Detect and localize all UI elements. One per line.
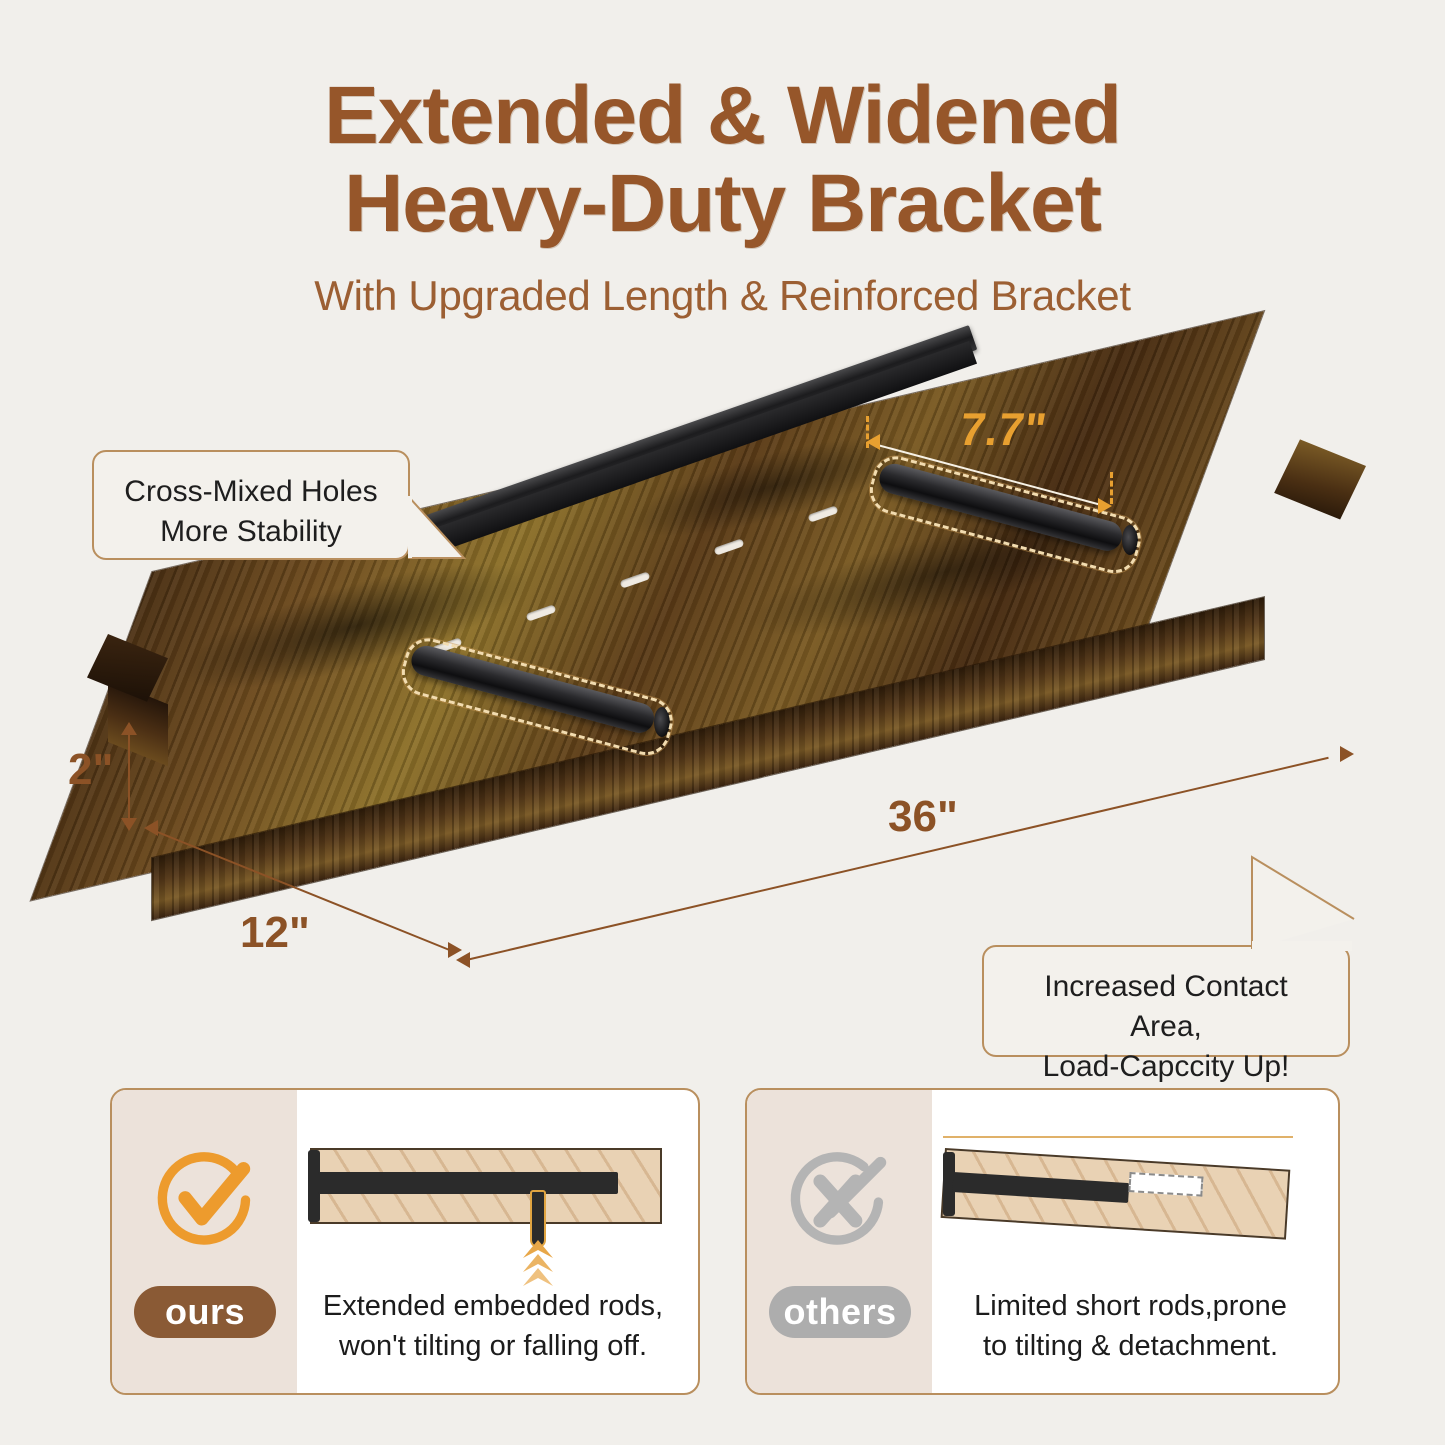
shelf-top-surface (31, 311, 1264, 900)
dimension-label-depth: 12" (240, 908, 310, 958)
dimension-label-thickness: 2" (68, 745, 113, 795)
dimension-label-length: 36" (888, 792, 958, 842)
comparison-panel-others: others Limited short rods,prone to tilti… (745, 1088, 1340, 1395)
badge-others: others (769, 1286, 911, 1338)
caption-ours-line-2: won't tilting or falling off. (302, 1326, 684, 1366)
x-circle-icon (789, 1148, 893, 1252)
page-title-line-2: Heavy-Duty Bracket (0, 160, 1445, 248)
shelf-right-cap (1274, 439, 1366, 519)
caption-ours-line-1: Extended embedded rods, (302, 1286, 684, 1326)
caption-others-line-1: Limited short rods,prone (937, 1286, 1324, 1326)
caption-ours: Extended embedded rods, won't tilting or… (302, 1286, 684, 1366)
embedded-rod-long (318, 1172, 618, 1194)
page-subtitle: With Upgraded Length & Reinforced Bracke… (0, 272, 1445, 320)
upward-arrow-icon (521, 1240, 555, 1288)
badge-ours: ours (134, 1286, 276, 1338)
callout-2-line-2: Load-Capccity Up! (1010, 1047, 1322, 1087)
callout-2-line-1: Increased Contact Area, (1010, 967, 1322, 1047)
headline-block: Extended & Widened Heavy-Duty Bracket Wi… (0, 72, 1445, 320)
page-title-line-1: Extended & Widened (0, 72, 1445, 160)
callout-increased-contact-area: Increased Contact Area, Load-Capccity Up… (982, 945, 1350, 1057)
callout-cross-mixed-holes: Cross-Mixed Holes More Stability (92, 450, 410, 560)
diagram-others (943, 1114, 1322, 1284)
comparison-panel-ours: ours Extended embedded rods, won't tilti… (110, 1088, 700, 1395)
callout-1-line-2: More Stability (120, 512, 382, 552)
callout-2-tail (1250, 855, 1360, 951)
infographic-canvas: Extended & Widened Heavy-Duty Bracket Wi… (0, 0, 1445, 1445)
check-circle-icon (154, 1148, 258, 1252)
diagram-ours (308, 1114, 682, 1284)
callout-1-line-1: Cross-Mixed Holes (120, 472, 382, 512)
tilt-guide-line (943, 1136, 1293, 1138)
dimension-label-rod-length: 7.7" (956, 402, 1049, 456)
caption-others: Limited short rods,prone to tilting & de… (937, 1286, 1324, 1366)
caption-others-line-2: to tilting & detachment. (937, 1326, 1324, 1366)
callout-1-tail (408, 496, 468, 576)
